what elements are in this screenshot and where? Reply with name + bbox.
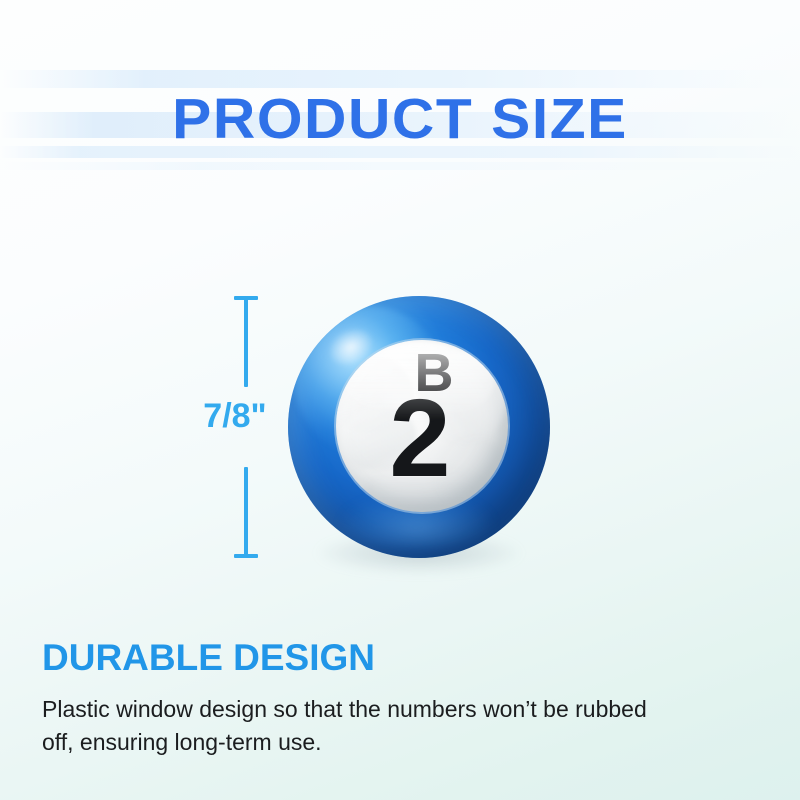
measure-cap-bottom: [234, 554, 258, 558]
feature-description: Plastic window design so that the number…: [42, 693, 662, 759]
background-band-lower: [0, 162, 800, 170]
page-title: PRODUCT SIZE: [0, 88, 800, 150]
feature-block: DURABLE DESIGN Plastic window design so …: [42, 636, 682, 759]
product-image: B 2: [288, 296, 550, 578]
measure-stem-lower: [244, 467, 248, 555]
dimension-label: 7/8": [185, 396, 285, 436]
ball-number: 2: [336, 384, 506, 494]
measure-stem-upper: [244, 299, 248, 387]
feature-heading: DURABLE DESIGN: [42, 636, 682, 680]
bingo-ball: B 2: [288, 296, 550, 558]
background-band-top: [0, 70, 800, 88]
product-size-infographic: PRODUCT SIZE 7/8" B 2: [0, 0, 800, 800]
ball-number-window: B 2: [336, 340, 508, 512]
